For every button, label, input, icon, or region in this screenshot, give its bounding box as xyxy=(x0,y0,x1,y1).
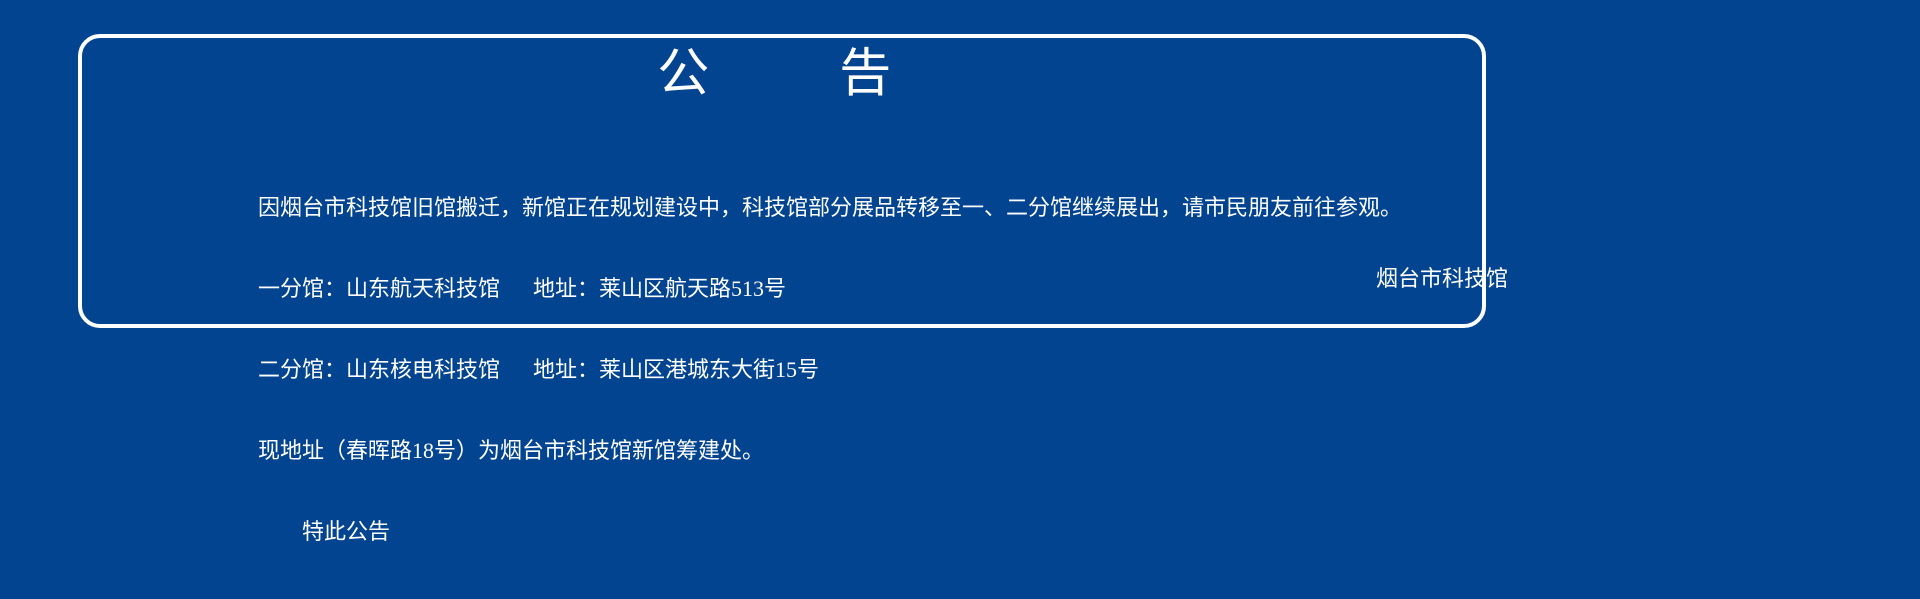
notice-title: 公 告 xyxy=(78,44,1486,106)
notice-signature: 烟台市科技馆 xyxy=(258,265,1508,292)
notice-body-line-1: 因烟台市科技馆旧馆搬迁，新馆正在规划建设中，科技馆部分展品转移至一、二分馆继续展… xyxy=(258,194,1508,221)
notice-closing-line: 特此公告 xyxy=(258,518,1508,545)
notice-body-line-3: 二分馆：山东核电科技馆 地址：莱山区港城东大街15号 xyxy=(258,356,1508,383)
notice-body: 因烟台市科技馆旧馆搬迁，新馆正在规划建设中，科技馆部分展品转移至一、二分馆继续展… xyxy=(258,140,1508,599)
notice-board: 公 告 因烟台市科技馆旧馆搬迁，新馆正在规划建设中，科技馆部分展品转移至一、二分… xyxy=(0,0,1920,446)
notice-body-line-4: 现地址（春晖路18号）为烟台市科技馆新馆筹建处。 xyxy=(258,437,1508,464)
